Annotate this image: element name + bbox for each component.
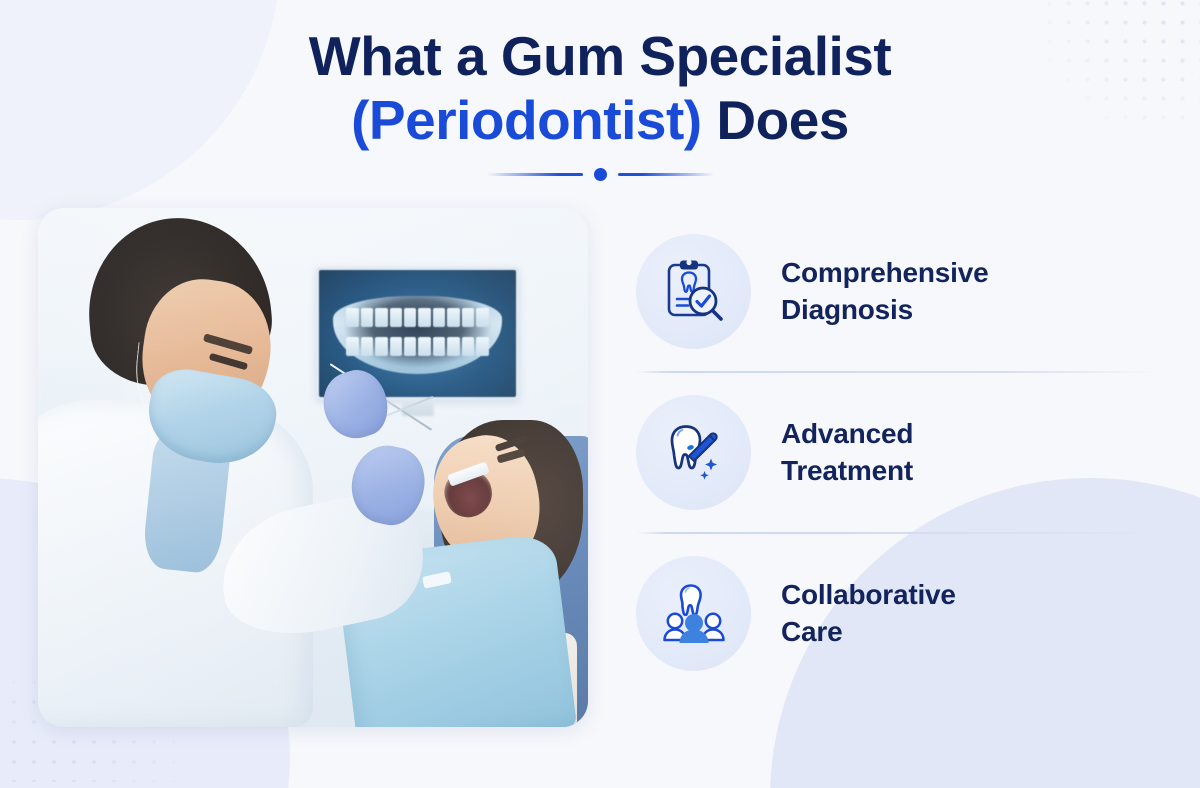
title-line-2-suffix: Does (716, 89, 849, 151)
title-divider (0, 168, 1200, 181)
title-line-1: What a Gum Specialist (309, 25, 891, 87)
feature-label: Collaborative Care (781, 576, 956, 651)
feature-label-line2: Treatment (781, 455, 913, 486)
title-accent-periodontist: (Periodontist) (351, 89, 701, 151)
feature-label-line1: Collaborative (781, 579, 956, 610)
divider-bar-right (618, 173, 714, 176)
xray-upper-teeth (346, 308, 488, 327)
feature-icon-wrapper (636, 234, 751, 349)
header: What a Gum Specialist (Periodontist) Doe… (0, 0, 1200, 181)
page-title: What a Gum Specialist (Periodontist) Doe… (0, 24, 1200, 153)
content-area: Comprehensive Diagnosis (0, 208, 1200, 727)
xray-lower-teeth (346, 337, 488, 356)
feature-label-line1: Advanced (781, 418, 913, 449)
feature-item-comprehensive-diagnosis[interactable]: Comprehensive Diagnosis (636, 212, 1160, 371)
feature-item-collaborative-care[interactable]: Collaborative Care (636, 534, 1160, 693)
feature-icon-wrapper (636, 556, 751, 671)
feature-label: Advanced Treatment (781, 415, 913, 490)
tooth-dental-tool-sparkle-icon (659, 417, 729, 487)
feature-label-line1: Comprehensive (781, 257, 988, 288)
team-tooth-icon (659, 578, 729, 648)
feature-item-advanced-treatment[interactable]: Advanced Treatment (636, 373, 1160, 532)
infographic-page: What a Gum Specialist (Periodontist) Doe… (0, 0, 1200, 788)
feature-label-line2: Diagnosis (781, 294, 913, 325)
feature-label-line2: Care (781, 616, 842, 647)
divider-dot-icon (594, 168, 607, 181)
photo-scene (38, 208, 588, 727)
clipboard-tooth-magnifier-icon (659, 256, 729, 326)
dental-examination-photo (38, 208, 588, 727)
feature-icon-wrapper (636, 395, 751, 510)
feature-label: Comprehensive Diagnosis (781, 254, 988, 329)
divider-bar-left (487, 173, 583, 176)
feature-list: Comprehensive Diagnosis (636, 208, 1160, 693)
